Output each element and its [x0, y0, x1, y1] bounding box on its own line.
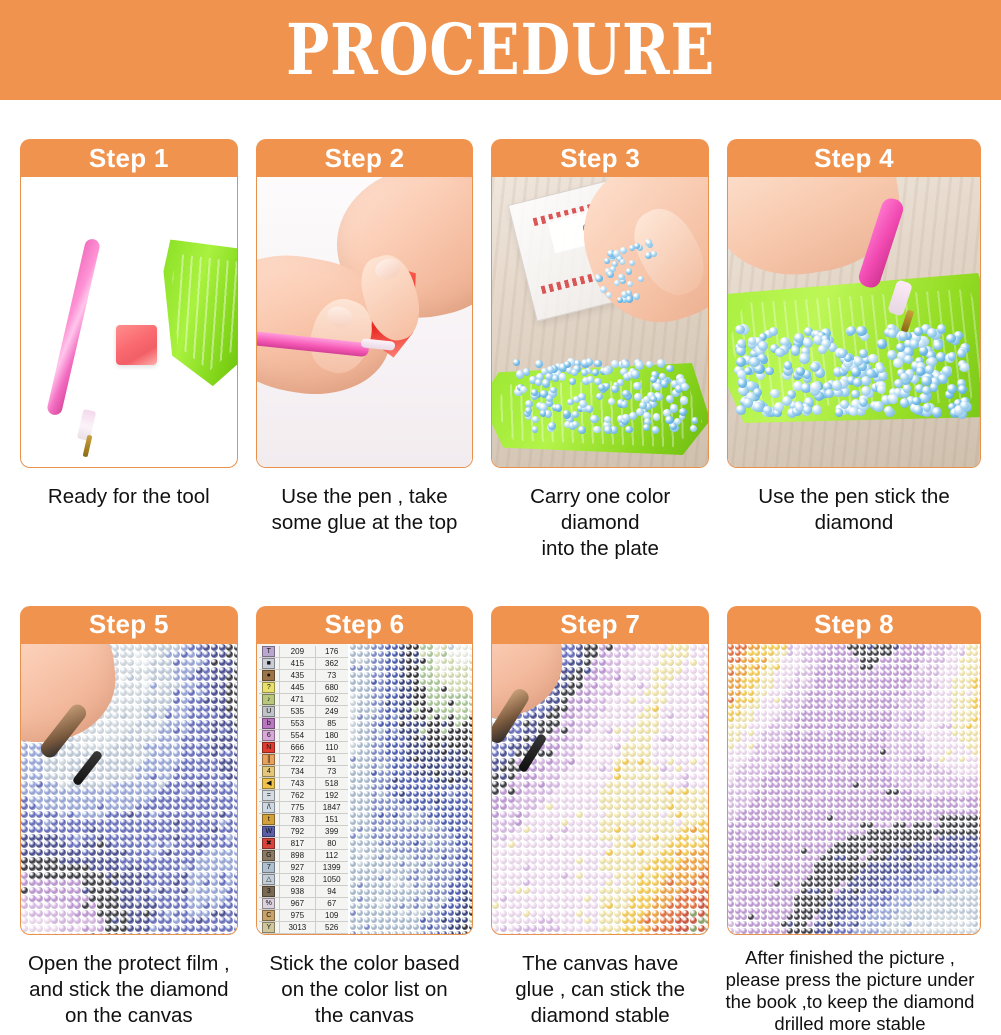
color-count-cell: 73 [316, 766, 348, 777]
color-swatch-cell: = [259, 790, 280, 801]
color-list-row: /\7751847 [259, 802, 348, 814]
pink-pen-graphic [46, 238, 101, 417]
diamond-bead [622, 414, 629, 421]
color-code-cell: 817 [280, 838, 316, 849]
color-chart-and-canvas-scene: T209176■415362●43573?445680♪471602U53524… [257, 644, 473, 934]
diamond-bead [784, 361, 793, 370]
canvas-with-pen-scene [21, 644, 237, 934]
diamond-bead [737, 339, 746, 348]
color-code-cell: 967 [280, 898, 316, 909]
color-swatch-cell: % [259, 898, 280, 909]
color-swatch-cell: △ [259, 874, 280, 885]
diamond-bead [604, 258, 610, 264]
step-badge-label-5: Step 5 [89, 609, 169, 640]
diamond-bead [587, 376, 594, 383]
diamond-bead [758, 354, 767, 363]
color-symbol: % [262, 898, 275, 909]
diamond-bead [893, 358, 903, 368]
pen-picking-bead-scene [728, 177, 980, 467]
color-list-row: 79271399 [259, 862, 348, 874]
step-card-8: Step 8 After finished the picture , plea… [727, 606, 981, 1035]
color-symbol: b [262, 718, 275, 729]
color-count-cell: 91 [316, 754, 348, 765]
color-symbol: 3 [262, 886, 275, 897]
color-swatch-cell: ■ [259, 658, 280, 669]
color-symbol: ║ [262, 754, 275, 765]
diamond-bead [937, 324, 946, 333]
canvas-with-pen-scene [492, 644, 708, 934]
diamond-bead [523, 368, 531, 376]
color-swatch-cell: ║ [259, 754, 280, 765]
color-list-row: ?445680 [259, 682, 348, 694]
color-list-row: b55385 [259, 718, 348, 730]
diamond-bead [626, 268, 632, 274]
color-symbol: /\ [262, 802, 275, 813]
color-count-cell: 109 [316, 910, 348, 921]
step-image-3: 6 [491, 177, 709, 468]
diamond-bead [758, 341, 768, 351]
color-swatch-cell: W [259, 826, 280, 837]
color-code-cell: 535 [280, 706, 316, 717]
diamond-bead [611, 385, 619, 393]
color-list-row: 473473 [259, 766, 348, 778]
step-card-3: Step 3 6 Carry one color diamond in [491, 139, 709, 563]
diamond-bead [572, 411, 579, 418]
bead-grid [350, 644, 473, 934]
color-symbol: ? [262, 682, 275, 693]
color-code-cell: 928 [280, 874, 316, 885]
color-code-cell: 927 [280, 862, 316, 873]
diamond-bead [661, 380, 669, 388]
page-header: PROCEDURE [0, 0, 1001, 100]
diamond-bead [888, 329, 897, 338]
step-badge-7: Step 7 [491, 606, 709, 644]
diamond-bead [631, 370, 639, 378]
blue-beads-in-tray [734, 323, 964, 409]
diamond-bead [638, 276, 644, 282]
diamond-bead [613, 250, 620, 257]
diamond-bead [604, 426, 612, 434]
color-symbol: 6 [262, 730, 275, 741]
color-list-row: ✖81780 [259, 838, 348, 850]
color-list-table: T209176■415362●43573?445680♪471602U53524… [257, 644, 350, 934]
diamond-bead [571, 369, 578, 376]
color-code-cell: 445 [280, 682, 316, 693]
color-count-cell: 180 [316, 730, 348, 741]
color-symbol: N [262, 742, 275, 753]
color-count-cell: 249 [316, 706, 348, 717]
hands-pen-wax-scene [257, 177, 473, 467]
diamond-bead [525, 407, 532, 414]
color-code-cell: 743 [280, 778, 316, 789]
color-list-row: C975109 [259, 910, 348, 922]
diamond-bead [861, 376, 871, 386]
diamond-bead [578, 426, 586, 434]
diamond-bead [634, 393, 641, 400]
diamond-bead [535, 360, 543, 368]
diamond-bead [948, 352, 957, 361]
diamond-bead [853, 378, 863, 388]
color-list-row: ♪471602 [259, 694, 348, 706]
color-swatch-cell: G [259, 850, 280, 861]
diamond-bead [636, 408, 644, 416]
color-swatch-cell: T [259, 646, 280, 657]
bag-pour-tray-scene: 6 [492, 177, 708, 467]
color-symbol: C [262, 910, 275, 921]
diamond-bead [620, 247, 627, 254]
diamond-bead [618, 274, 624, 280]
color-code-cell: 471 [280, 694, 316, 705]
color-swatch-cell: ● [259, 670, 280, 681]
diamond-bead [604, 416, 611, 423]
diamond-bead [900, 373, 909, 382]
color-count-cell: 94 [316, 886, 348, 897]
color-count-cell: 1399 [316, 862, 348, 873]
diamond-bead [775, 348, 784, 357]
color-list-row: N666110 [259, 742, 348, 754]
color-swatch-cell: ? [259, 682, 280, 693]
diamond-bead [590, 415, 598, 423]
bead-canvas-graphic [728, 644, 980, 934]
color-count-cell: 602 [316, 694, 348, 705]
diamond-bead [657, 359, 665, 367]
color-count-cell: 110 [316, 742, 348, 753]
tools-on-white-scene [21, 177, 237, 467]
color-list-row: 393894 [259, 886, 348, 898]
step-caption-7: The canvas have glue , can stick the dia… [491, 951, 709, 1030]
diamond-bead [930, 383, 939, 392]
color-swatch-cell: t [259, 814, 280, 825]
diamond-bead [810, 362, 820, 372]
bead-grid [728, 644, 980, 934]
diamond-bead [825, 389, 834, 398]
diamond-bead [634, 243, 640, 249]
color-list-row: t783151 [259, 814, 348, 826]
step-card-7: Step 7 The canvas have glue , can stick … [491, 606, 709, 1035]
color-swatch-cell: C [259, 910, 280, 921]
step-image-7 [491, 644, 709, 935]
diamond-bead [877, 385, 886, 394]
diamond-bead [627, 281, 633, 287]
color-symbol: Y [262, 922, 275, 933]
diamond-bead [552, 375, 559, 382]
diamond-bead [550, 387, 557, 394]
color-count-cell: 680 [316, 682, 348, 693]
diamond-bead [690, 425, 697, 432]
color-list-row: △9281050 [259, 874, 348, 886]
color-symbol: t [262, 814, 275, 825]
diamond-bead [899, 331, 909, 341]
color-symbol: 7 [262, 862, 275, 873]
diamond-bead [912, 397, 921, 406]
diamond-bead [838, 349, 847, 358]
diamond-bead [854, 357, 863, 366]
diamond-bead [794, 333, 804, 343]
diamond-bead [593, 426, 601, 434]
step-card-1: Step 1 Ready for the tool [20, 139, 238, 563]
diamond-bead [622, 390, 629, 397]
diamond-bead [595, 275, 602, 282]
color-symbol: W [262, 826, 275, 837]
step-card-5: Step 5 Open the protect film , and stick… [20, 606, 238, 1035]
blue-beads-falling [592, 237, 652, 297]
color-list-row: ║72291 [259, 754, 348, 766]
diamond-bead [603, 367, 610, 374]
diamond-bead [670, 404, 678, 412]
color-code-cell: 3013 [280, 922, 316, 933]
diamond-bead [535, 379, 542, 386]
color-swatch-cell: 4 [259, 766, 280, 777]
diamond-bead [914, 327, 923, 336]
color-swatch-cell: Y [259, 922, 280, 933]
diamond-bead [633, 382, 641, 390]
diamond-bead [586, 405, 593, 412]
step-caption-5: Open the protect film , and stick the di… [20, 951, 238, 1030]
color-code-cell: 792 [280, 826, 316, 837]
diamond-bead [925, 365, 934, 374]
diamond-bead [765, 367, 774, 376]
diamond-bead [680, 396, 688, 404]
diamond-bead [958, 385, 967, 394]
diamond-bead [666, 395, 674, 403]
color-symbol: 4 [262, 766, 275, 777]
color-swatch-cell: ♪ [259, 694, 280, 705]
color-swatch-cell: 3 [259, 886, 280, 897]
diamond-bead [960, 363, 969, 372]
diamond-bead [541, 368, 548, 375]
diamond-bead [622, 361, 630, 369]
color-list-row: 6554180 [259, 730, 348, 742]
color-list-row: U535249 [259, 706, 348, 718]
step-badge-5: Step 5 [20, 606, 238, 644]
diamond-bead [650, 396, 657, 403]
color-count-cell: 526 [316, 922, 348, 933]
diamond-bead [559, 373, 567, 381]
color-swatch-cell: 6 [259, 730, 280, 741]
color-count-cell: 176 [316, 646, 348, 657]
diamond-bead [546, 395, 553, 402]
diamond-bead [633, 293, 640, 300]
diamond-bead [679, 408, 687, 416]
diamond-bead [586, 358, 594, 366]
diamond-bead [933, 341, 942, 350]
diamond-bead [770, 389, 779, 398]
color-count-cell: 362 [316, 658, 348, 669]
diamond-bead [812, 405, 822, 415]
color-count-cell: 151 [316, 814, 348, 825]
color-list-row: W792399 [259, 826, 348, 838]
diamond-bead [581, 369, 588, 376]
color-list-row: ●43573 [259, 670, 348, 682]
step-badge-label-2: Step 2 [325, 143, 405, 174]
color-code-cell: 762 [280, 790, 316, 801]
diamond-bead [927, 328, 937, 338]
diamond-bead [791, 346, 800, 355]
diamond-bead [620, 259, 626, 265]
diamond-bead [753, 402, 763, 412]
step-caption-6: Stick the color based on the color list … [256, 951, 474, 1030]
color-code-cell: 975 [280, 910, 316, 921]
color-symbol: ● [262, 670, 275, 681]
color-code-cell: 938 [280, 886, 316, 897]
diamond-bead [532, 416, 539, 423]
color-swatch-cell: U [259, 706, 280, 717]
color-count-cell: 85 [316, 718, 348, 729]
diamond-bead [738, 379, 747, 388]
color-count-cell: 73 [316, 670, 348, 681]
color-list-row: %96767 [259, 898, 348, 910]
diamond-bead [646, 361, 653, 368]
diamond-bead [743, 398, 753, 408]
diamond-bead [520, 386, 527, 393]
diamond-bead [614, 280, 620, 286]
step-caption-1: Ready for the tool [20, 484, 238, 510]
color-symbol: ✖ [262, 838, 275, 849]
step-badge-label-1: Step 1 [89, 143, 169, 174]
diamond-bead [796, 367, 805, 376]
diamond-bead [810, 382, 820, 392]
color-code-cell: 553 [280, 718, 316, 729]
diamond-bead [803, 406, 812, 415]
step-image-5 [20, 644, 238, 935]
color-count-cell: 67 [316, 898, 348, 909]
diamond-bead [769, 327, 778, 336]
step-badge-label-4: Step 4 [814, 143, 894, 174]
step-image-1 [20, 177, 238, 468]
color-list-row: ■415362 [259, 658, 348, 670]
page-title: PROCEDURE [286, 15, 715, 85]
color-swatch-cell: 7 [259, 862, 280, 873]
diamond-bead [856, 326, 866, 336]
color-count-cell: 192 [316, 790, 348, 801]
diamond-bead [916, 367, 925, 376]
color-code-cell: 775 [280, 802, 316, 813]
step-caption-2: Use the pen , take some glue at the top [256, 484, 474, 536]
color-count-cell: 399 [316, 826, 348, 837]
color-symbol: △ [262, 874, 275, 885]
color-code-cell: 734 [280, 766, 316, 777]
diamond-bead [513, 359, 520, 366]
color-swatch-cell: /\ [259, 802, 280, 813]
diamond-bead [532, 426, 539, 433]
diamond-bead [608, 398, 616, 406]
diamond-bead [652, 426, 660, 434]
color-swatch-cell: ◀ [259, 778, 280, 789]
step-caption-4: Use the pen stick the diamond [727, 484, 981, 536]
color-code-cell: 783 [280, 814, 316, 825]
step-badge-2: Step 2 [256, 139, 474, 177]
step-caption-8: After finished the picture , please pres… [719, 947, 981, 1035]
step-badge-label-8: Step 8 [814, 609, 894, 640]
diamond-bead [540, 410, 547, 417]
diamond-bead [799, 353, 809, 363]
steps-grid: Step 1 Ready for the tool Step 2 [0, 100, 1001, 1035]
diamond-bead [903, 384, 912, 393]
step-badge-1: Step 1 [20, 139, 238, 177]
diamond-bead [889, 394, 898, 403]
color-symbol: = [262, 790, 275, 801]
diamond-bead [592, 369, 599, 376]
step-badge-6: Step 6 [256, 606, 474, 644]
color-code-cell: 435 [280, 670, 316, 681]
diamond-bead [932, 407, 942, 417]
color-swatch-cell: b [259, 718, 280, 729]
diamond-bead [910, 339, 920, 349]
diamond-bead [666, 365, 674, 373]
diamond-bead [763, 406, 772, 415]
diamond-bead [542, 379, 550, 387]
color-code-cell: 666 [280, 742, 316, 753]
color-code-cell: 209 [280, 646, 316, 657]
step-badge-8: Step 8 [727, 606, 981, 644]
diamond-bead [610, 266, 616, 272]
color-count-cell: 1050 [316, 874, 348, 885]
diamond-bead [621, 401, 628, 408]
color-list-row: ◀743518 [259, 778, 348, 790]
step-badge-4: Step 4 [727, 139, 981, 177]
diamond-bead [681, 383, 689, 391]
color-count-cell: 1847 [316, 802, 348, 813]
step-badge-label-7: Step 7 [560, 609, 640, 640]
step-card-2: Step 2 Use the pen , take some glue at t… [256, 139, 474, 563]
color-symbol: G [262, 850, 275, 861]
step-card-4: Step 4 Use the pen stick the diamond [727, 139, 981, 563]
diamond-bead [803, 338, 813, 348]
diamond-bead [921, 376, 931, 386]
color-code-cell: 415 [280, 658, 316, 669]
step-image-6: T209176■415362●43573?445680♪471602U53524… [256, 644, 474, 935]
diamond-bead [832, 380, 842, 390]
diamond-bead [818, 345, 827, 354]
diamond-bead [861, 386, 871, 396]
diamond-bead [596, 393, 603, 400]
blue-beads-in-tray [512, 357, 692, 427]
step-caption-3: Carry one color diamond into the plate [491, 484, 709, 563]
color-code-cell: 722 [280, 754, 316, 765]
bead-canvas-graphic [350, 644, 473, 934]
step-badge-label-6: Step 6 [325, 609, 405, 640]
step-image-2 [256, 177, 474, 468]
color-swatch-cell: ✖ [259, 838, 280, 849]
color-code-cell: 898 [280, 850, 316, 861]
step-badge-3: Step 3 [491, 139, 709, 177]
diamond-bead [900, 398, 910, 408]
color-count-cell: 80 [316, 838, 348, 849]
diamond-bead [847, 326, 856, 335]
diamond-bead [555, 404, 563, 412]
color-count-cell: 112 [316, 850, 348, 861]
diamond-bead [877, 339, 887, 349]
diamond-bead [736, 357, 746, 367]
color-code-cell: 554 [280, 730, 316, 741]
diamond-bead [629, 260, 635, 266]
finished-canvas-scene [728, 644, 980, 934]
diamond-bead [947, 384, 957, 394]
step-image-8 [727, 644, 981, 935]
diamond-bead [635, 361, 643, 369]
pink-wax-square-graphic [116, 325, 157, 365]
diamond-bead [960, 401, 969, 410]
diamond-bead [873, 401, 883, 411]
color-list-row: G898112 [259, 850, 348, 862]
color-symbol: ♪ [262, 694, 275, 705]
diamond-bead [594, 360, 602, 368]
color-symbol: ■ [262, 658, 275, 669]
step-image-4 [727, 177, 981, 468]
color-list-row: =762192 [259, 790, 348, 802]
diamond-bead [569, 378, 576, 385]
step-card-6: Step 6 T209176■415362●43573?445680♪47160… [256, 606, 474, 1035]
